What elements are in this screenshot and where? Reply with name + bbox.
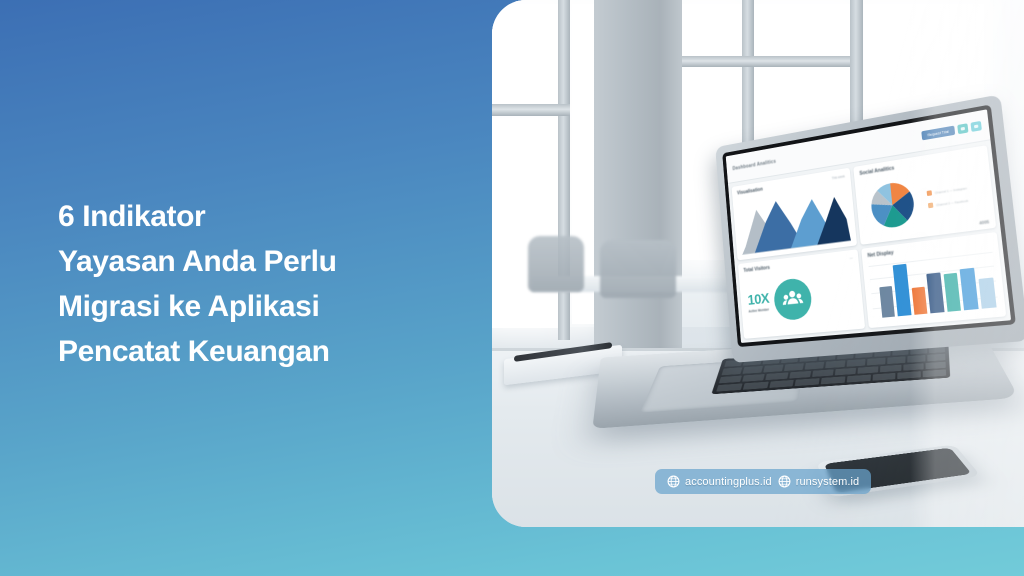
filter-icon[interactable] (971, 121, 982, 132)
headline-line-4: Pencatat Keuangan (58, 329, 478, 374)
bar-chart-card: Net Display ···· (861, 232, 1006, 328)
export-icon[interactable] (957, 123, 968, 134)
office-chair (528, 236, 584, 292)
bar (960, 268, 979, 310)
legend-swatch (927, 190, 933, 196)
laptop-screen: Dashboard Analitics Request Trial (722, 104, 1016, 347)
dashboard: Dashboard Analitics Request Trial (726, 109, 1011, 343)
pie-footer-value: 4005 (979, 219, 989, 226)
laptop-lid: Dashboard Analitics Request Trial (715, 94, 1024, 363)
pie-chart (861, 177, 925, 232)
bar (943, 273, 961, 312)
blog-banner: 6 Indikator Yayasan Anda Perlu Migrasi k… (0, 0, 1024, 576)
bar (911, 287, 927, 315)
badge-label: accountingplus.id (685, 476, 772, 488)
legend-label: Channel 1 — Instagram (935, 186, 968, 195)
stat-caption: Active Member (748, 307, 770, 313)
badge-runsystem[interactable]: runsystem.id (778, 475, 860, 488)
card-subtitle: — (849, 256, 852, 260)
legend-item: Channel 2 — Facebook (928, 195, 987, 208)
stat-value: 10X (747, 291, 770, 308)
bar (978, 277, 996, 308)
window-pane (682, 4, 742, 58)
legend-label: Channel 2 — Facebook (936, 198, 968, 207)
bar (893, 264, 911, 316)
window-pane (754, 4, 850, 58)
request-trial-button[interactable]: Request Trial (921, 126, 955, 141)
page-title: 6 Indikator Yayasan Anda Perlu Migrasi k… (58, 194, 478, 374)
bar-series (877, 250, 997, 318)
legend-item: Channel 1 — Instagram (927, 182, 986, 196)
card-title: Net Display (867, 250, 894, 259)
headline-line-3: Migrasi ke Aplikasi (58, 284, 478, 329)
pie-chart-card: Social Analitics (853, 145, 996, 245)
card-subtitle: This week (832, 174, 845, 180)
dashboard-title: Dashboard Analitics (732, 158, 776, 171)
globe-icon (778, 475, 791, 488)
site-credit-badges: accountingplus.id runsystem.id (655, 469, 871, 494)
bar (927, 273, 945, 314)
window-mullion (492, 104, 570, 116)
pie-chart-svg (868, 178, 917, 230)
badge-accountingplus[interactable]: accountingplus.id (667, 475, 772, 488)
bar-y-axis: ···· (868, 262, 874, 319)
laptop: Dashboard Analitics Request Trial (592, 120, 1022, 450)
area-chart-card: Visualisation This week (732, 168, 857, 261)
legend-swatch (928, 202, 934, 208)
stat-card: Total Visitors — 10X Active Member (738, 249, 865, 339)
badge-label: runsystem.id (796, 476, 860, 488)
window-pane (492, 118, 558, 328)
people-group-icon (773, 276, 813, 321)
headline-line-2: Yayasan Anda Perlu (58, 239, 478, 284)
headline-line-1: 6 Indikator (58, 194, 478, 239)
window-pane (492, 4, 558, 108)
dashboard-actions: Request Trial (921, 121, 982, 141)
bar (879, 286, 895, 317)
pie-legend: Channel 1 — Instagram Channel 2 — Facebo… (927, 182, 987, 208)
window-mullion (672, 56, 862, 67)
globe-icon (667, 475, 680, 488)
hero-photo: Dashboard Analitics Request Trial (492, 0, 1024, 527)
bar-chart: ···· (868, 248, 999, 323)
